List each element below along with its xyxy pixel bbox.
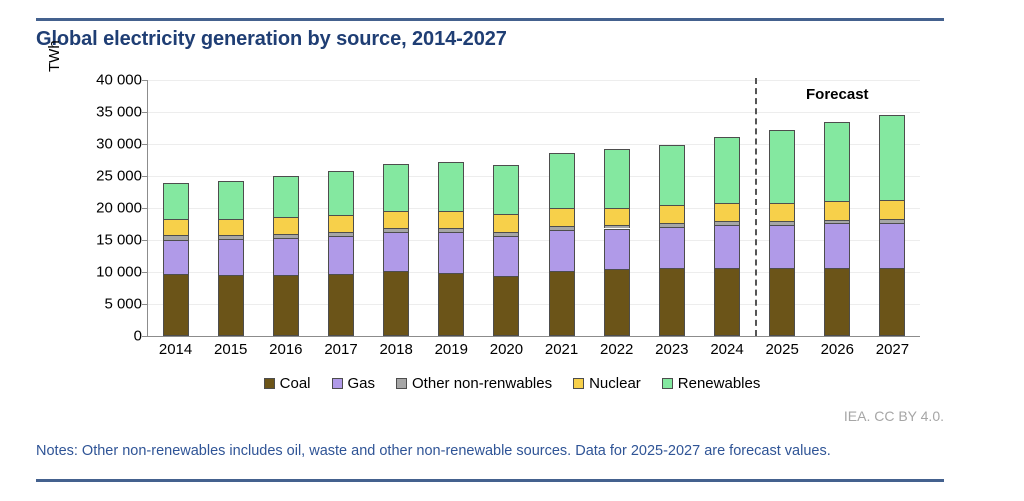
bar-segment-nuclear[interactable] (769, 203, 795, 222)
bar-segment-nuclear[interactable] (328, 215, 354, 232)
bar-segment-gas[interactable] (218, 239, 244, 275)
y-tick-label: 30 000 (96, 136, 142, 153)
bar-segment-coal[interactable] (163, 274, 189, 336)
bar-segment-renewables[interactable] (549, 153, 575, 208)
bar-segment-nuclear[interactable] (604, 208, 630, 225)
bar-segment-coal[interactable] (383, 271, 409, 336)
bar-segment-renewables[interactable] (438, 162, 464, 211)
bar-segment-renewables[interactable] (383, 164, 409, 211)
bar-segment-other-non-renwables[interactable] (879, 219, 905, 223)
bar-group[interactable] (824, 80, 850, 336)
bar-segment-other-non-renwables[interactable] (659, 223, 685, 227)
bar-segment-coal[interactable] (328, 274, 354, 336)
bar-segment-renewables[interactable] (714, 137, 740, 203)
bar-segment-other-non-renwables[interactable] (328, 232, 354, 236)
bar-segment-nuclear[interactable] (824, 201, 850, 220)
legend-label: Other non-renwables (412, 375, 552, 392)
bar-segment-coal[interactable] (273, 275, 299, 336)
legend-swatch-renewables (662, 378, 673, 389)
x-tick-label: 2022 (600, 341, 633, 358)
bar-segment-renewables[interactable] (163, 183, 189, 219)
bar-segment-nuclear[interactable] (493, 214, 519, 231)
legend-swatch-nuclear (573, 378, 584, 389)
legend-label: Gas (348, 375, 376, 392)
x-tick-label: 2016 (269, 341, 302, 358)
chart-figure: Global electricity generation by source,… (0, 0, 1024, 501)
bar-segment-coal[interactable] (714, 268, 740, 336)
bar-segment-gas[interactable] (604, 229, 630, 270)
bar-group[interactable] (549, 80, 575, 336)
bar-segment-other-non-renwables[interactable] (604, 225, 630, 229)
bar-segment-coal[interactable] (438, 273, 464, 336)
x-tick-label: 2018 (379, 341, 412, 358)
bar-segment-gas[interactable] (714, 225, 740, 268)
bar-group[interactable] (218, 80, 244, 336)
y-tick-mark (142, 336, 148, 337)
bar-group[interactable] (604, 80, 630, 336)
bar-segment-gas[interactable] (383, 232, 409, 271)
x-tick-label: 2019 (435, 341, 468, 358)
legend-item-coal[interactable]: Coal (264, 375, 311, 392)
bar-group[interactable] (659, 80, 685, 336)
legend-swatch-coal (264, 378, 275, 389)
forecast-label: Forecast (806, 86, 869, 103)
bar-segment-other-non-renwables[interactable] (218, 235, 244, 239)
bar-segment-nuclear[interactable] (273, 217, 299, 234)
bar-segment-renewables[interactable] (769, 130, 795, 203)
bar-group[interactable] (328, 80, 354, 336)
bar-segment-coal[interactable] (659, 268, 685, 336)
x-tick-label: 2023 (655, 341, 688, 358)
bar-segment-renewables[interactable] (218, 181, 244, 219)
bar-group[interactable] (438, 80, 464, 336)
bar-segment-nuclear[interactable] (383, 211, 409, 228)
bar-segment-other-non-renwables[interactable] (549, 226, 575, 230)
y-tick-label: 20 000 (96, 200, 142, 217)
bar-segment-nuclear[interactable] (659, 205, 685, 222)
bar-segment-other-non-renwables[interactable] (438, 228, 464, 232)
legend-label: Renewables (678, 375, 761, 392)
y-tick-label: 15 000 (96, 232, 142, 249)
gridline (148, 336, 920, 337)
bar-segment-renewables[interactable] (659, 145, 685, 206)
bar-segment-coal[interactable] (549, 271, 575, 336)
x-axis-tick-labels: 2014201520162017201820192020202120222023… (148, 341, 920, 363)
bar-segment-gas[interactable] (824, 223, 850, 267)
bar-segment-gas[interactable] (659, 227, 685, 269)
forecast-divider-line (755, 78, 757, 336)
bar-group[interactable] (879, 80, 905, 336)
bar-group[interactable] (493, 80, 519, 336)
bar-segment-gas[interactable] (549, 230, 575, 271)
bar-segment-gas[interactable] (879, 223, 905, 268)
x-tick-label: 2015 (214, 341, 247, 358)
y-axis-title: TWh (46, 40, 63, 72)
page-title: Global electricity generation by source,… (36, 28, 507, 51)
x-tick-label: 2020 (490, 341, 523, 358)
bar-segment-renewables[interactable] (493, 165, 519, 215)
bar-segment-other-non-renwables[interactable] (493, 232, 519, 236)
bar-segment-gas[interactable] (438, 232, 464, 272)
legend-item-nuclear[interactable]: Nuclear (573, 375, 641, 392)
bar-segment-gas[interactable] (163, 240, 189, 274)
bar-segment-other-non-renwables[interactable] (714, 221, 740, 225)
bar-segment-coal[interactable] (879, 268, 905, 336)
x-tick-label: 2021 (545, 341, 578, 358)
x-tick-label: 2027 (876, 341, 909, 358)
bar-segment-other-non-renwables[interactable] (769, 221, 795, 225)
legend-label: Coal (280, 375, 311, 392)
bar-segment-nuclear[interactable] (163, 219, 189, 235)
bar-group[interactable] (714, 80, 740, 336)
legend-swatch-other-non-renwables (396, 378, 407, 389)
bar-segment-gas[interactable] (328, 236, 354, 274)
bar-segment-renewables[interactable] (273, 176, 299, 217)
bar-segment-other-non-renwables[interactable] (383, 228, 409, 232)
bar-segment-renewables[interactable] (604, 149, 630, 207)
bar-segment-nuclear[interactable] (714, 203, 740, 221)
bar-segment-renewables[interactable] (879, 115, 905, 200)
y-tick-label: 5 000 (104, 296, 142, 313)
bar-segment-nuclear[interactable] (879, 200, 905, 219)
bar-segment-nuclear[interactable] (549, 208, 575, 226)
legend-item-gas[interactable]: Gas (332, 375, 376, 392)
bar-segment-coal[interactable] (769, 268, 795, 336)
notes-text: Notes: Other non-renewables includes oil… (36, 443, 831, 459)
bar-segment-nuclear[interactable] (218, 219, 244, 235)
chart-legend: CoalGasOther non-renwablesNuclearRenewab… (0, 375, 1024, 392)
bar-segment-other-non-renwables[interactable] (163, 235, 189, 239)
x-tick-label: 2025 (765, 341, 798, 358)
bar-segment-gas[interactable] (273, 238, 299, 275)
bar-segment-renewables[interactable] (328, 171, 354, 215)
y-tick-label: 25 000 (96, 168, 142, 185)
bar-group[interactable] (769, 80, 795, 336)
bar-segment-nuclear[interactable] (438, 211, 464, 229)
legend-swatch-gas (332, 378, 343, 389)
attribution-text: IEA. CC BY 4.0. (844, 408, 944, 424)
bar-group[interactable] (383, 80, 409, 336)
bar-segment-coal[interactable] (824, 268, 850, 336)
y-tick-label: 40 000 (96, 72, 142, 89)
bar-segment-coal[interactable] (493, 276, 519, 336)
top-rule (36, 18, 944, 21)
x-tick-label: 2017 (324, 341, 357, 358)
y-tick-label: 35 000 (96, 104, 142, 121)
bar-segment-other-non-renwables[interactable] (273, 234, 299, 238)
bar-segment-coal[interactable] (218, 275, 244, 336)
y-tick-label: 10 000 (96, 264, 142, 281)
y-axis-tick-labels: 05 00010 00015 00020 00025 00030 00035 0… (58, 80, 142, 336)
bar-segment-renewables[interactable] (824, 122, 850, 201)
legend-item-other-non-renwables[interactable]: Other non-renwables (396, 375, 552, 392)
plot-area: Forecast (148, 80, 920, 336)
x-tick-label: 2024 (710, 341, 743, 358)
x-tick-label: 2014 (159, 341, 192, 358)
bar-segment-gas[interactable] (769, 225, 795, 269)
bar-group[interactable] (163, 80, 189, 336)
bottom-rule (36, 479, 944, 482)
bar-segment-coal[interactable] (604, 269, 630, 336)
bar-segment-other-non-renwables[interactable] (824, 220, 850, 224)
legend-item-renewables[interactable]: Renewables (662, 375, 761, 392)
legend-label: Nuclear (589, 375, 641, 392)
bar-group[interactable] (273, 80, 299, 336)
y-tick-label: 0 (134, 328, 142, 345)
bars-layer: Forecast (148, 80, 920, 336)
x-tick-label: 2026 (821, 341, 854, 358)
bar-segment-gas[interactable] (493, 236, 519, 276)
